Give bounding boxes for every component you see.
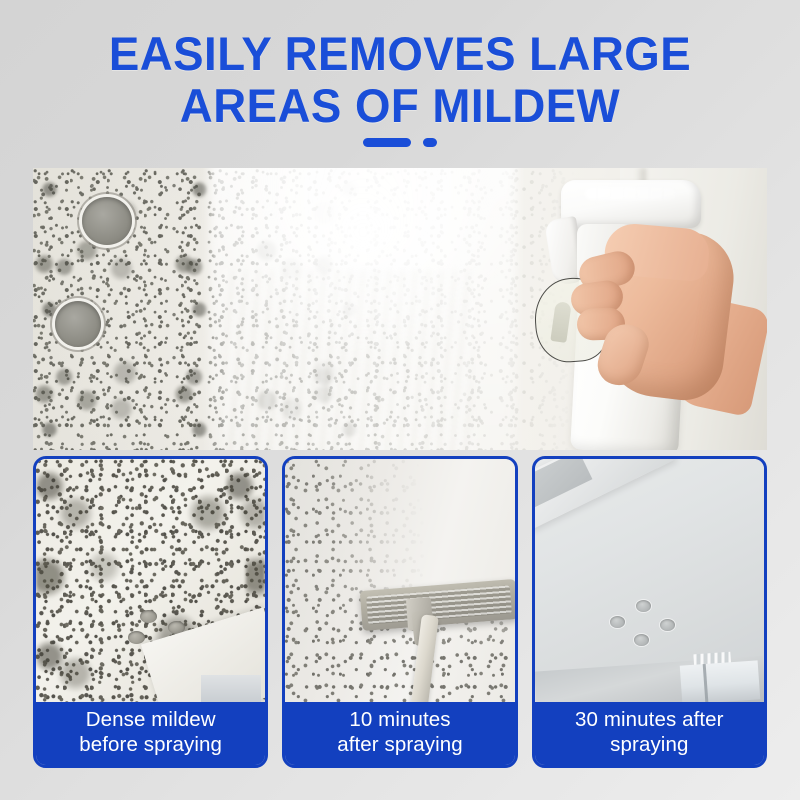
accent-dot-icon bbox=[423, 138, 437, 147]
hero-downlight-icon bbox=[82, 197, 132, 245]
downlight-icon bbox=[610, 616, 625, 628]
panel-before: Dense mildew before spraying bbox=[33, 456, 268, 768]
spray-bottle bbox=[519, 180, 734, 450]
headline-line-1: EASILY REMOVES LARGE bbox=[12, 28, 788, 80]
hand bbox=[575, 204, 745, 410]
panel-before-caption: Dense mildew before spraying bbox=[36, 702, 265, 765]
hero-spray-streaks bbox=[224, 270, 474, 450]
panel-after-30-caption: 30 minutes after spraying bbox=[535, 702, 764, 765]
panel-before-window bbox=[201, 675, 261, 702]
hero-downlight-icon bbox=[55, 301, 101, 347]
downlight-icon bbox=[636, 600, 651, 612]
headline-block: EASILY REMOVES LARGE AREAS OF MILDEW bbox=[0, 28, 800, 147]
accent-rule bbox=[363, 138, 437, 147]
panel-after-10-residual-mold bbox=[285, 459, 514, 702]
panel-before-photo bbox=[36, 459, 265, 702]
panel-after-30-window bbox=[680, 660, 760, 702]
downlight-icon bbox=[128, 631, 145, 644]
panel-after-10-caption: 10 minutes after spraying bbox=[285, 702, 514, 765]
panel-after-10-photo bbox=[285, 459, 514, 702]
downlight-icon bbox=[660, 619, 675, 631]
spray-bottle-highlight bbox=[585, 187, 677, 200]
comparison-panels: Dense mildew before spraying 10 minutes … bbox=[33, 456, 767, 768]
headline-line-2: AREAS OF MILDEW bbox=[12, 80, 788, 132]
hero-image bbox=[33, 168, 767, 450]
panel-after-10: 10 minutes after spraying bbox=[282, 456, 517, 768]
panel-after-30-photo bbox=[535, 459, 764, 702]
panel-after-30: 30 minutes after spraying bbox=[532, 456, 767, 768]
panel-after-30-downlights bbox=[610, 600, 676, 650]
downlight-icon bbox=[634, 634, 649, 646]
accent-dash-icon bbox=[363, 138, 411, 147]
downlight-icon bbox=[140, 610, 157, 623]
